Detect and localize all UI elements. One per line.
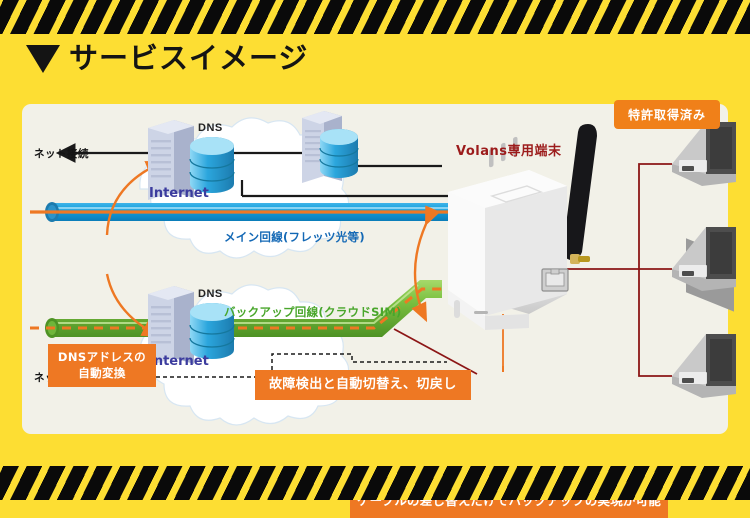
device-label: Volans専用端末 (456, 140, 562, 159)
page-title: サービスイメージ (26, 44, 308, 73)
backup-line-label: バックアップ回線(クラウドSIM) (224, 304, 402, 320)
page-title-text: サービスイメージ (69, 44, 308, 73)
hazard-stripe-bottom (0, 466, 750, 500)
hazard-stripe-top (0, 0, 750, 34)
callout-dns-line1: DNSアドレスの (58, 350, 146, 364)
database-secondary (320, 129, 358, 178)
cloud-label-top: Internet (149, 186, 209, 201)
callout-failover: 故障検出と自動切替え、切戻し (255, 370, 471, 400)
usb-slot (474, 311, 488, 314)
triangle-down-icon (26, 45, 60, 73)
main-line-label: メイン回線(フレッツ光等) (224, 229, 365, 245)
main-line-pipe (30, 202, 452, 222)
cloud-label-bottom: Internet (149, 354, 209, 369)
callout-dns-conversion: DNSアドレスの 自動変換 (48, 344, 156, 387)
dns-database-top (190, 137, 234, 193)
laptop-icon (672, 334, 736, 398)
rj45-port-icon (542, 269, 568, 291)
net-connection-label-top: ネット接続 (34, 146, 89, 161)
status-badge: 特許取得済み (614, 100, 720, 129)
callout-dns-line2: 自動変換 (78, 366, 126, 380)
side-slot (454, 300, 460, 318)
laptop-icon (672, 227, 736, 291)
dns-label-top: DNS (198, 122, 223, 134)
device-cable (394, 329, 477, 374)
dns-label-bottom: DNS (198, 288, 223, 300)
diagram-panel: 特許取得済み (22, 104, 728, 434)
